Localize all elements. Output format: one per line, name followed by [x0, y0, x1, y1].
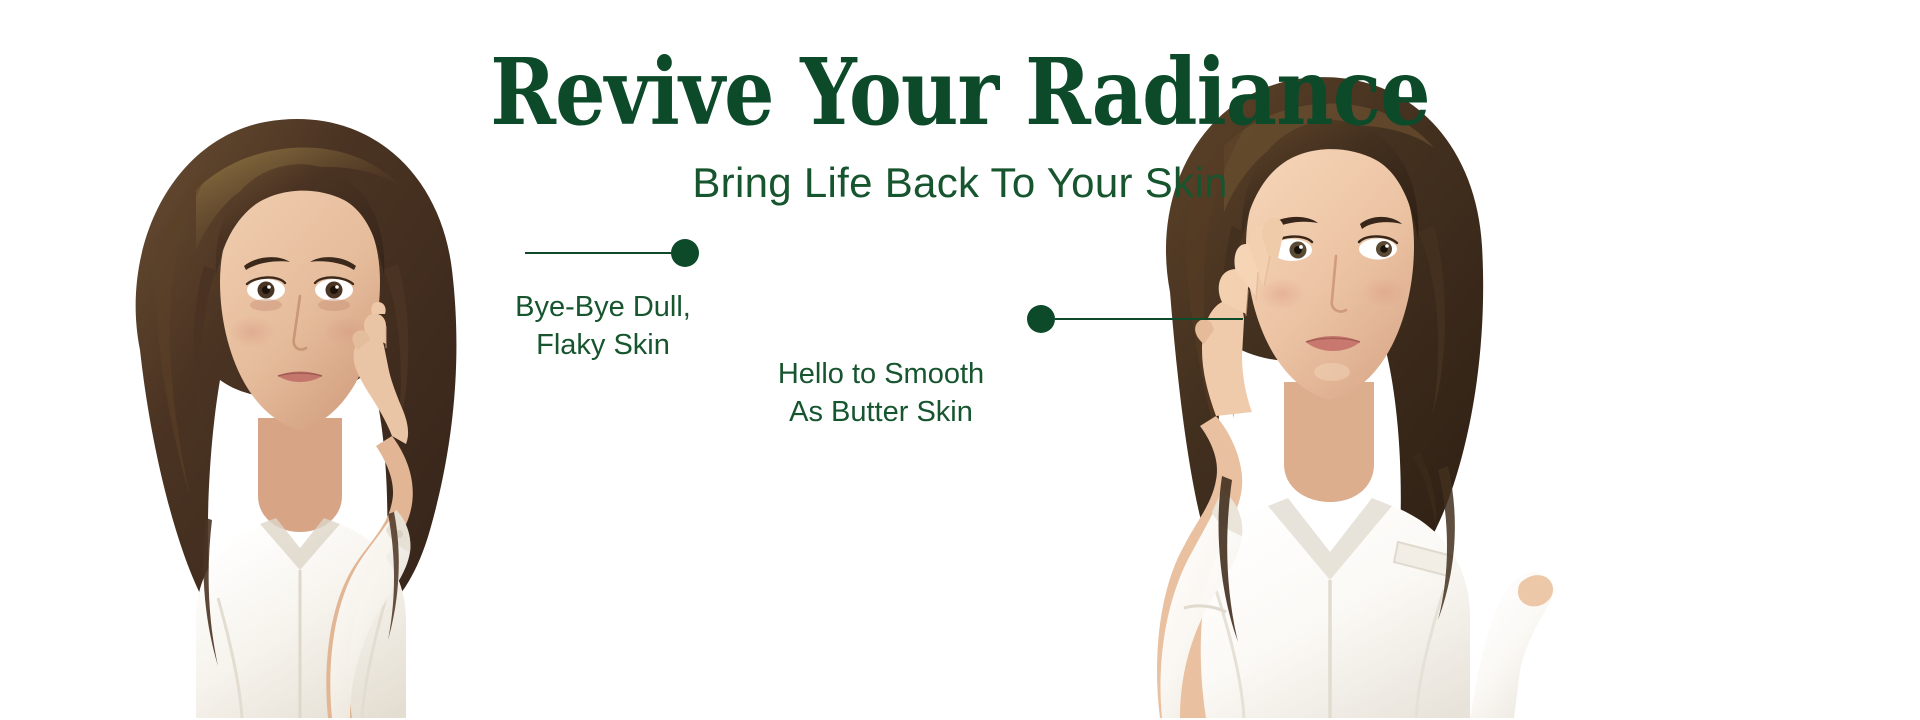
callout-right-connector [1027, 305, 1243, 333]
callout-left-connector [525, 239, 699, 267]
callout-left-label: Bye-Bye Dull, Flaky Skin [505, 288, 701, 365]
callout-right-label: Hello to Smooth As Butter Skin [736, 355, 1026, 432]
before-portrait-image [100, 100, 520, 720]
callout-right-line1: Hello to Smooth [736, 355, 1026, 393]
promo-banner: Revive Your Radiance Bring Life Back To … [0, 0, 1920, 720]
dot-marker-icon [1027, 305, 1055, 333]
after-portrait-image [1000, 60, 1560, 720]
callout-left-line1: Bye-Bye Dull, [505, 288, 701, 326]
dot-marker-icon [671, 239, 699, 267]
connector-line-icon [1055, 318, 1243, 320]
callout-left-line2: Flaky Skin [505, 326, 701, 364]
callout-right-line2: As Butter Skin [736, 393, 1026, 431]
connector-line-icon [525, 252, 671, 254]
